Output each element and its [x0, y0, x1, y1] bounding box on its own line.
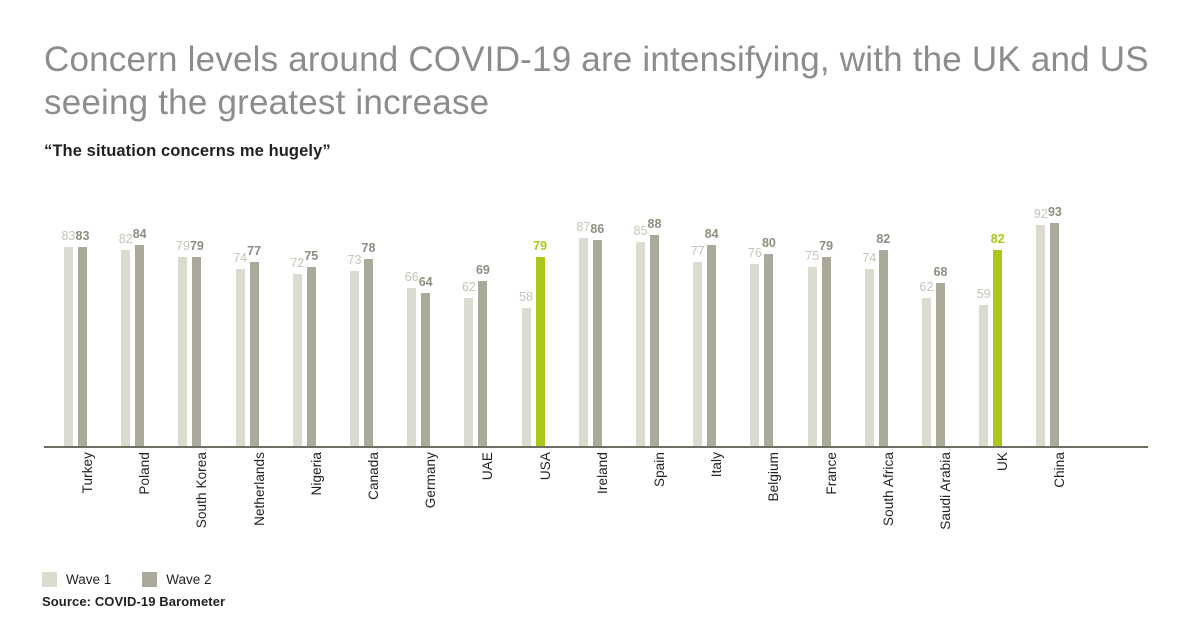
- bar-value-label: 93: [1040, 206, 1070, 219]
- bar-france-wave-1[interactable]: [808, 267, 817, 448]
- bar-value-label: 84: [697, 228, 727, 241]
- bar-poland-wave-2[interactable]: [135, 245, 144, 448]
- x-label-nigeria: Nigeria: [309, 452, 324, 495]
- bar-value-label: 78: [354, 242, 384, 255]
- legend-swatch-icon: [142, 572, 157, 587]
- bar-ireland-wave-1[interactable]: [579, 238, 588, 449]
- bar-belgium-wave-2[interactable]: [764, 254, 773, 448]
- x-label-south-korea: South Korea: [194, 452, 209, 528]
- legend-item-wave-2[interactable]: Wave 2: [142, 572, 211, 587]
- bar-value-label: 82: [983, 233, 1013, 246]
- chart-page: Concern levels around COVID-19 are inten…: [0, 0, 1200, 627]
- bar-china-wave-2[interactable]: [1050, 223, 1059, 448]
- bar-china-wave-1[interactable]: [1036, 225, 1045, 448]
- bar-saudi-arabia-wave-1[interactable]: [922, 298, 931, 448]
- bar-uk-wave-1[interactable]: [979, 305, 988, 448]
- bar-value-label: 88: [640, 218, 670, 231]
- bar-netherlands-wave-2[interactable]: [250, 262, 259, 448]
- bar-canada-wave-1[interactable]: [350, 271, 359, 448]
- bar-south-korea-wave-1[interactable]: [178, 257, 187, 448]
- x-label-uk: UK: [995, 452, 1010, 471]
- x-label-saudi-arabia: Saudi Arabia: [938, 452, 953, 530]
- bar-italy-wave-1[interactable]: [693, 262, 702, 448]
- bar-turkey-wave-2[interactable]: [78, 247, 87, 448]
- legend-label: Wave 1: [66, 572, 111, 587]
- x-label-turkey: Turkey: [80, 452, 95, 493]
- bar-ireland-wave-2[interactable]: [593, 240, 602, 448]
- bar-value-label: 75: [296, 250, 326, 263]
- bar-usa-wave-2[interactable]: [536, 257, 545, 448]
- x-label-italy: Italy: [709, 452, 724, 477]
- bar-south-korea-wave-2[interactable]: [192, 257, 201, 448]
- bar-value-label: 68: [926, 266, 956, 279]
- x-label-south-africa: South Africa: [881, 452, 896, 526]
- bar-germany-wave-2[interactable]: [421, 293, 430, 448]
- bar-usa-wave-1[interactable]: [522, 308, 531, 448]
- bar-value-label: 64: [411, 276, 441, 289]
- bar-netherlands-wave-1[interactable]: [236, 269, 245, 448]
- bar-value-label: 79: [525, 240, 555, 253]
- chart-legend: Wave 1Wave 2: [42, 572, 234, 587]
- bar-poland-wave-1[interactable]: [121, 250, 130, 448]
- bar-spain-wave-1[interactable]: [636, 242, 645, 448]
- x-axis-category-labels: TurkeyPolandSouth KoreaNetherlandsNigeri…: [44, 452, 1148, 562]
- bar-nigeria-wave-1[interactable]: [293, 274, 302, 448]
- page-title: Concern levels around COVID-19 are inten…: [44, 38, 1154, 124]
- bar-nigeria-wave-2[interactable]: [307, 267, 316, 448]
- x-label-france: France: [824, 452, 839, 495]
- bar-value-label: 79: [182, 240, 212, 253]
- x-label-ireland: Ireland: [595, 452, 610, 494]
- bar-value-label: 83: [68, 230, 98, 243]
- bar-value-label: 82: [868, 233, 898, 246]
- bar-italy-wave-2[interactable]: [707, 245, 716, 448]
- x-label-usa: USA: [538, 452, 553, 480]
- x-label-uae: UAE: [480, 452, 495, 480]
- bar-france-wave-2[interactable]: [822, 257, 831, 448]
- bar-value-label: 86: [582, 223, 612, 236]
- bar-south-africa-wave-2[interactable]: [879, 250, 888, 448]
- x-label-spain: Spain: [652, 452, 667, 487]
- legend-label: Wave 2: [166, 572, 211, 587]
- bar-value-label: 69: [468, 264, 498, 277]
- source-note: Source: COVID-19 Barometer: [42, 594, 225, 609]
- bar-value-label: 77: [239, 245, 269, 258]
- bar-turkey-wave-1[interactable]: [64, 247, 73, 448]
- x-label-china: China: [1052, 452, 1067, 488]
- bar-spain-wave-2[interactable]: [650, 235, 659, 448]
- bar-south-africa-wave-1[interactable]: [865, 269, 874, 448]
- x-axis-line: [44, 446, 1148, 448]
- legend-item-wave-1[interactable]: Wave 1: [42, 572, 111, 587]
- legend-swatch-icon: [42, 572, 57, 587]
- chart-subtitle: “The situation concerns me hugely”: [44, 142, 331, 161]
- x-label-poland: Poland: [137, 452, 152, 495]
- bar-germany-wave-1[interactable]: [407, 288, 416, 448]
- x-label-germany: Germany: [423, 452, 438, 508]
- x-label-belgium: Belgium: [766, 452, 781, 501]
- bar-value-label: 80: [754, 237, 784, 250]
- bar-chart-plot-area: 8383828479797477727573786664626958798786…: [44, 185, 1148, 448]
- bar-value-label: 84: [125, 228, 155, 241]
- bar-uk-wave-2[interactable]: [993, 250, 1002, 448]
- bar-canada-wave-2[interactable]: [364, 259, 373, 448]
- bar-saudi-arabia-wave-2[interactable]: [936, 283, 945, 448]
- x-label-netherlands: Netherlands: [252, 452, 267, 526]
- bar-uae-wave-2[interactable]: [478, 281, 487, 448]
- bar-uae-wave-1[interactable]: [464, 298, 473, 448]
- bar-belgium-wave-1[interactable]: [750, 264, 759, 448]
- x-label-canada: Canada: [366, 452, 381, 500]
- bar-value-label: 79: [811, 240, 841, 253]
